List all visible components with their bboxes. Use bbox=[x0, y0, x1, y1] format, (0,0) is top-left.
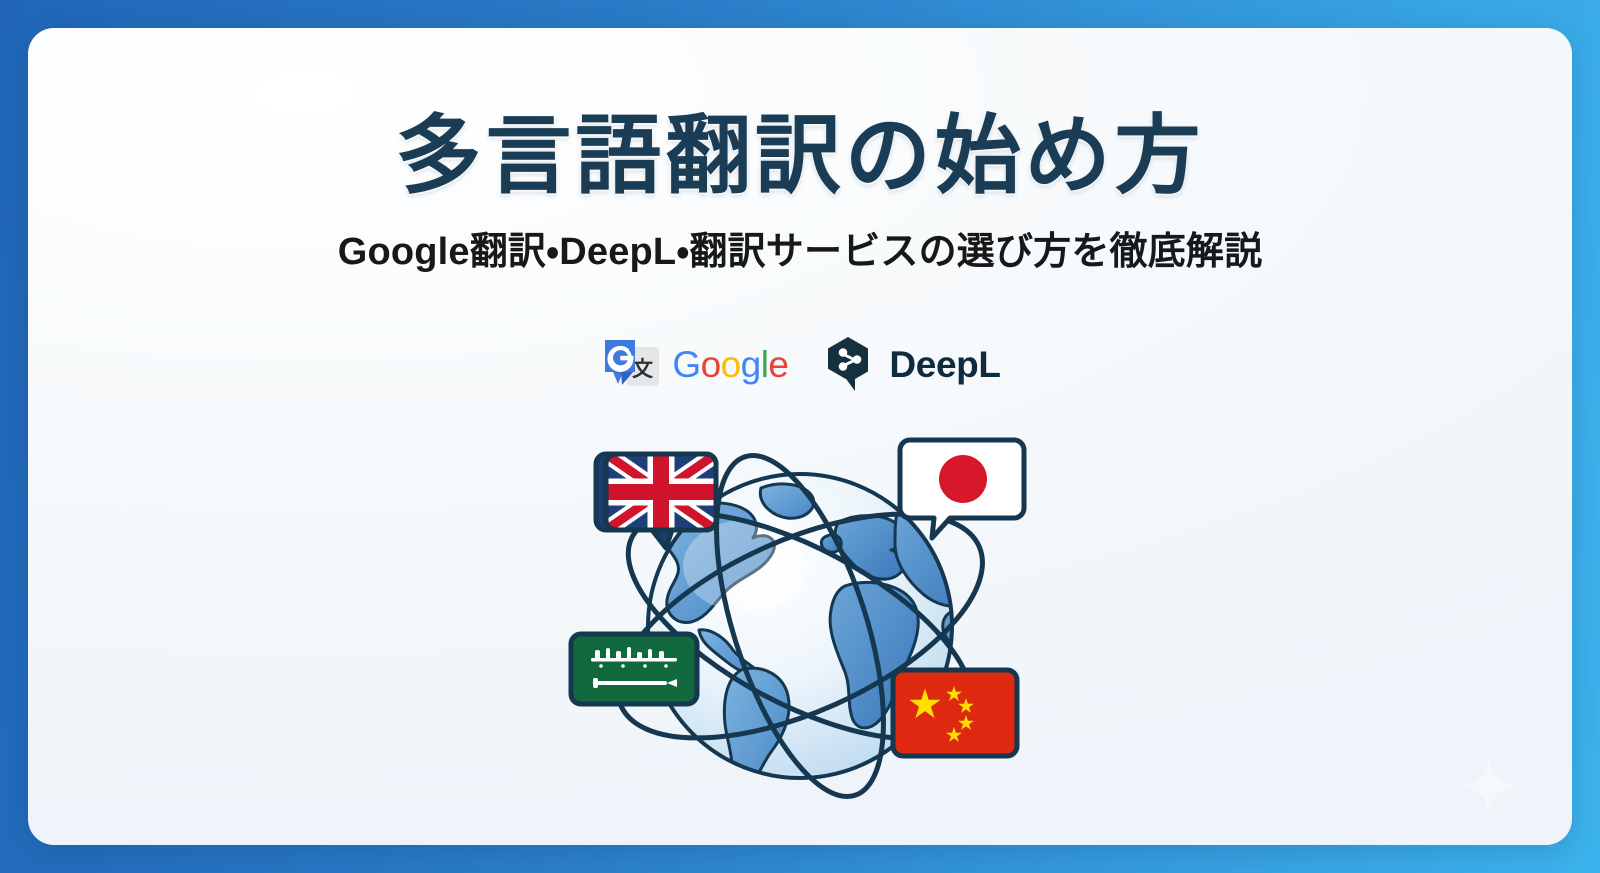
globe-illustration bbox=[565, 426, 1035, 824]
title-block: 多言語翻訳の始め方 Google翻訳・DeepL・翻訳サービスの選び方を徹底解説 bbox=[28, 110, 1572, 276]
flag-bubble-saudi-arabia bbox=[571, 634, 697, 704]
google-letter-o2: o bbox=[721, 344, 741, 385]
brand-logo-row: 文 Google bbox=[28, 334, 1572, 394]
google-letter-e: e bbox=[768, 344, 788, 385]
deepl-wordmark: DeepL bbox=[889, 346, 1000, 383]
globe-svg bbox=[565, 426, 1035, 824]
google-letter-o1: o bbox=[701, 344, 721, 385]
slide-stage: 多言語翻訳の始め方 Google翻訳・DeepL・翻訳サービスの選び方を徹底解説… bbox=[0, 0, 1600, 873]
brand-google-translate: 文 Google bbox=[599, 334, 788, 394]
google-translate-icon: 文 bbox=[599, 334, 661, 394]
sparkle-icon bbox=[1460, 757, 1518, 815]
google-letter-g1: G bbox=[672, 344, 700, 385]
flag-bubble-japan bbox=[900, 440, 1024, 538]
slide-title: 多言語翻訳の始め方 bbox=[28, 110, 1572, 203]
deepl-icon bbox=[822, 334, 878, 394]
google-wordmark: Google bbox=[672, 346, 788, 383]
flag-bubble-china bbox=[893, 670, 1017, 756]
svg-text:文: 文 bbox=[632, 357, 653, 381]
brand-deepl: DeepL bbox=[822, 334, 1000, 394]
slide-subtitle: Google翻訳・DeepL・翻訳サービスの選び方を徹底解説 bbox=[28, 229, 1572, 277]
slide-card: 多言語翻訳の始め方 Google翻訳・DeepL・翻訳サービスの選び方を徹底解説… bbox=[28, 28, 1572, 845]
google-letter-g2: g bbox=[741, 344, 761, 385]
